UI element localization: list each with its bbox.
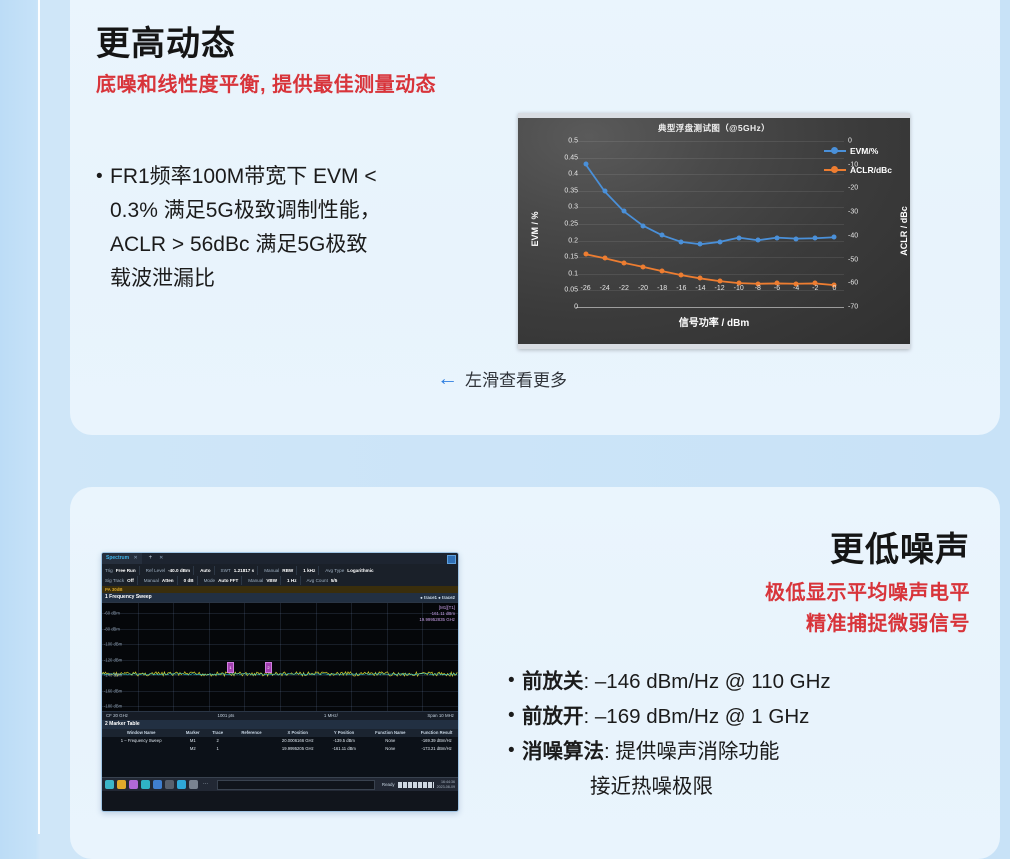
sa-spectrum-graph[interactable]: [M1][T1]-161.11 dBm19.99952835 GHz 1 2 -… [102,602,458,711]
chart-data-point [832,235,837,240]
chart-data-point [583,162,588,167]
sa-param-value[interactable]: Auto FFT [218,578,238,583]
bullet-spacer [96,194,110,228]
chart-x-tick: -20 [638,285,648,292]
sa-param-separator [139,566,140,575]
table-cell: M1 [180,737,205,745]
section-noise-bullets: • 前放关: –146 dBm/Hz @ 110 GHz • 前放开: –169… [508,664,998,804]
table-column-header: X Position [273,729,323,737]
chart-y2-tick: -50 [848,256,878,263]
sa-param-label: Ref Level [143,568,165,573]
sa-param-separator [241,576,242,585]
sa-grid-horizontal [102,644,458,645]
sa-param-label: Manual [261,568,279,573]
sa-param-value[interactable]: Logarithmic [347,568,373,573]
sa-clock-date: 2023-08-09 [437,785,455,790]
sa-graph-y-label: -120 dBm [104,657,122,662]
table-cell [230,745,273,753]
sa-scale-badge: PA 30dB [102,586,458,593]
sa-marker-table-body: 1 – Frequency SweepM1220.0006166 GHz-139… [102,737,458,753]
list-item: 0.3% 满足5G极致调制性能， [96,194,476,228]
sa-param-label: SWT [218,568,231,573]
sa-param-separator [300,576,301,585]
sa-grid-vertical [316,603,317,711]
sa-param-value[interactable]: Auto [200,568,210,573]
swipe-for-more-hint[interactable]: ← 左滑查看更多 [437,366,567,391]
sa-param-label: Mode [201,578,216,583]
bullet-dot: • [508,699,522,734]
bullet-label: 消噪算法 [522,740,604,763]
bullet-text-line: ACLR > 56dBc 满足5G极致 [110,228,476,262]
chart-x-axis-label: 信号功率 / dBm [518,314,910,329]
undo-icon[interactable] [153,780,162,789]
table-column-header: Function Result [415,729,458,737]
save-icon[interactable] [129,780,138,789]
sa-param-value[interactable]: 1 kHz [303,568,315,573]
table-cell: -169.39 dBm/Hz [415,737,458,745]
sa-parameter-bar: TrigFree RunRef Level-40.0 dBmAutoSWT1.2… [102,564,458,586]
bullet-text-line: 0.3% 满足5G极致调制性能， [110,194,476,228]
chart-data-point [679,239,684,244]
page-left-rail [38,0,40,834]
chart-x-tick: -16 [676,285,686,292]
sa-param-separator [177,576,178,585]
chart-data-point [717,279,722,284]
sa-grid-vertical [387,603,388,711]
sa-param-separator [280,576,281,585]
sa-grid-horizontal [102,629,458,630]
sa-param-separator [137,576,138,585]
window-button[interactable] [447,555,456,564]
chart-y-tick: 0.25 [538,221,578,228]
sa-tab-label: Spectrum [106,555,129,561]
sa-grid-vertical [244,603,245,711]
sa-param-label: Manual [141,578,159,583]
folder-icon[interactable] [117,780,126,789]
list-item: • 前放关: –146 dBm/Hz @ 110 GHz [508,664,998,699]
sa-span-step: 1 MHz/ [324,712,338,720]
sa-param-value[interactable]: 0 dB [184,578,194,583]
left-arrow-icon: ← [437,370,458,387]
table-cell: None [365,737,415,745]
table-row[interactable]: 1 – Frequency SweepM1220.0006166 GHz-139… [102,737,458,745]
chart-data-point [775,235,780,240]
section-noise-subtitle: 极低显示平均噪声电平 精准捕捉微弱信号 [765,578,970,640]
sa-tab-spectrum[interactable]: Spectrum ✕ [102,553,142,564]
bullet-label: 前放关 [522,670,584,693]
sa-progress-blocks [398,782,434,788]
chart-x-tick: -2 [812,285,818,292]
sa-param-label: Manual [245,578,263,583]
sa-param-separator [257,566,258,575]
sa-param-separator [197,576,198,585]
chart-y-tick: 0.2 [538,237,578,244]
close-icon[interactable]: ✕ [133,555,137,561]
sa-span: Span 10 MHz [427,712,454,720]
chart-legend-label: EVM/% [850,146,878,156]
chart-data-point [736,235,741,240]
list-item: 载波泄漏比 [96,262,476,296]
sa-marker-2-label: 2 [266,663,271,672]
sa-param-value[interactable]: Off [127,578,134,583]
chart-data-point [679,273,684,278]
chart-x-tick: -26 [581,285,591,292]
chart-plot-area [576,141,844,307]
chart-y-tick: 0.45 [538,154,578,161]
chart-y-tick: 0.1 [538,270,578,277]
sa-param-value[interactable]: 1.21817 s [234,568,254,573]
bullet-value: –146 dBm/Hz @ 110 GHz [595,670,831,693]
chart-y2-tick: -40 [848,232,878,239]
chart-y2-tick: -70 [848,304,878,311]
table-column-header: Trace [205,729,230,737]
sa-window-header: 1 Frequency Sweep ● trace1 ● trace2 [102,593,458,602]
chart-data-point [813,236,818,241]
chart-data-point [641,264,646,269]
sa-clock: 16:44:36 2023-08-09 [437,780,455,790]
section-noise-subtitle-line: 精准捕捉微弱信号 [765,609,970,640]
table-column-header: Marker [180,729,205,737]
chart-y-tick: 0.15 [538,254,578,261]
sa-param-value[interactable]: -40.0 dBm [168,568,190,573]
table-header-row: Window NameMarkerTraceReferenceX Positio… [102,729,458,737]
sa-param-row-1: TrigFree RunRef Level-40.0 dBmAutoSWT1.2… [102,565,458,575]
sa-marker-table-title: 2 Marker Table [102,720,458,729]
bullet-text: 前放关: –146 dBm/Hz @ 110 GHz [522,664,998,699]
section-dynamic-title: 更高动态 [96,16,236,65]
table-column-header: Reference [230,729,273,737]
list-item: • FR1频率100M带宽下 EVM < [96,160,476,194]
table-cell: 1 [205,745,230,753]
chart-data-point [698,242,703,247]
sa-graph-y-label: -100 dBm [104,642,122,647]
chart-data-point [755,238,760,243]
sa-points: 1001 pts [218,712,235,720]
chart-data-point [621,260,626,265]
bullet-value: –169 dBm/Hz @ 1 GHz [595,705,810,728]
chart-x-tick: -12 [715,285,725,292]
bullet-text: 消噪算法: 提供噪声消除功能 [522,734,998,769]
sa-graph-y-label: -60 dBm [104,611,120,616]
chart-data-point [660,233,665,238]
bullet-value: 提供噪声消除功能 [615,740,779,763]
table-cell: -161.11 dBm [323,745,366,753]
bullet-label: 前放开 [522,705,584,728]
table-cell: 20.0006166 GHz [273,737,323,745]
table-cell: None [365,745,415,753]
chart-y2-tick: -10 [848,161,878,168]
list-item: • 消噪算法: 提供噪声消除功能 [508,734,998,769]
chart-top-strip [518,113,910,118]
sa-marker-2[interactable]: 2 [265,662,272,673]
sa-taskbar: ··· Ready 16:44:36 2023-08-09 [102,777,458,791]
chart-x-tick: 0 [832,285,836,292]
table-cell: 2 [205,737,230,745]
section-dynamic-bullets: • FR1频率100M带宽下 EVM < 0.3% 满足5G极致调制性能， AC… [96,160,476,296]
chart-y-tick: 0.05 [538,287,578,294]
chart-data-point [621,209,626,214]
sa-center-frequency: CF 20 GHz [106,712,128,720]
table-column-header: Window Name [102,729,180,737]
sa-grid-horizontal [102,706,458,707]
more-icon[interactable]: ··· [201,780,210,789]
table-cell: 1 – Frequency Sweep [102,737,180,745]
chart-y2-tick: -30 [848,209,878,216]
chart-x-tick: -24 [600,285,610,292]
chart-data-point [641,223,646,228]
sa-graph-footer: CF 20 GHz 1001 pts 1 MHz/ Span 10 MHz [102,711,458,720]
chart-y2-tick: -60 [848,280,878,287]
bullet-text-line: FR1频率100M带宽下 EVM < [110,160,476,194]
table-cell [230,737,273,745]
sa-marker-readout: [M1][T1]-161.11 dBm19.99952835 GHz [419,605,455,623]
sa-marker-table-filler [102,753,458,777]
sa-param-value[interactable]: 1 Hz [287,578,296,583]
sa-param-row-2: Sig TrackOffManualAtten0 dBModeAuto FFTM… [102,575,458,585]
gear-icon[interactable] [177,780,186,789]
table-cell: M2 [180,745,205,753]
table-column-header: Function Name [365,729,415,737]
sa-grid-horizontal [102,613,458,614]
chart-y-tick: 0.3 [538,204,578,211]
chart-data-point [794,236,799,241]
sa-grid-vertical [422,603,423,711]
chart-data-point [698,276,703,281]
chart-y-tick: 0 [538,304,578,311]
chart-y2-axis-label: ACLR / dBc [899,206,909,256]
sa-grid-vertical [173,603,174,711]
sa-param-value[interactable]: Atten [162,578,174,583]
list-item: • 前放开: –169 dBm/Hz @ 1 GHz [508,699,998,734]
chart-data-point [717,239,722,244]
sa-marker-1-label: 1 [228,663,233,672]
sa-window-title: 1 Frequency Sweep [105,593,152,602]
sa-grid-vertical [351,603,352,711]
sa-grid-vertical [209,603,210,711]
chart-data-point [583,252,588,257]
chart-x-tick: -18 [657,285,667,292]
chart-title: 典型浮盘测试图（@5GHz） [518,122,910,134]
section-noise-title: 更低噪声 [830,522,970,571]
chart-x-tick: -14 [695,285,705,292]
spectrum-analyzer-screenshot: Spectrum ✕ + ✕ TrigFree RunRef Level-40.… [101,552,459,812]
chart-x-tick: -8 [755,285,761,292]
chart-bottom-strip [518,344,910,349]
sa-param-separator [214,566,215,575]
chart-y-tick: 0.35 [538,187,578,194]
chart-data-point [660,269,665,274]
sa-command-bar[interactable] [217,780,375,790]
sa-grid-vertical [138,603,139,711]
table-cell: -139.5 dBm [323,737,366,745]
table-column-header: Y Position [323,729,366,737]
chart-x-tick: -6 [774,285,780,292]
chart-series-svg [576,141,844,307]
chart-x-tick: -22 [619,285,629,292]
bullet-dot: • [508,664,522,699]
sa-status-label: Ready [382,782,395,787]
table-row[interactable]: M2119.9995205 GHz-161.11 dBmNone-173.21 … [102,745,458,753]
chart-y-tick: 0.5 [538,138,578,145]
chart-series-line [586,164,835,244]
evm-aclr-chart: 典型浮盘测试图（@5GHz） EVM / % ACLR / dBc 信号功率 /… [518,113,910,349]
sa-grid-vertical [280,603,281,711]
sa-param-value[interactable]: 5/5 [331,578,337,583]
bullet-text: 前放开: –169 dBm/Hz @ 1 GHz [522,699,998,734]
chart-data-point [602,256,607,261]
sa-graph-y-label: -160 dBm [104,688,122,693]
bullet-spacer [96,262,110,296]
sa-param-label: Sig Track [102,578,124,583]
sa-grid-horizontal [102,691,458,692]
sa-marker-1[interactable]: 1 [227,662,234,673]
list-item: ACLR > 56dBc 满足5G极致 [96,228,476,262]
chart-y2-tick: -20 [848,185,878,192]
table-cell [102,745,180,753]
chart-y-tick: 0.4 [538,171,578,178]
settings-icon[interactable] [105,780,114,789]
sa-param-separator [296,566,297,575]
chart-data-point [602,189,607,194]
sa-grid-horizontal [102,675,458,676]
add-tab-icon[interactable]: + [149,553,153,564]
bullet-sep: : [584,670,595,693]
sa-param-value[interactable]: VBW [266,578,277,583]
sa-readout-line: 19.99952835 GHz [419,617,455,623]
target-icon[interactable] [141,780,150,789]
section-dynamic-subtitle: 底噪和线性度平衡, 提供最佳测量动态 [96,68,436,97]
sa-graph-y-label: -140 dBm [104,673,122,678]
bullet-dot: • [96,160,110,194]
bullet-spacer [96,228,110,262]
sa-graph-y-label: -80 dBm [104,626,120,631]
sa-grid-horizontal [102,660,458,661]
link-icon[interactable] [165,780,174,789]
sa-tab-bar: Spectrum ✕ + ✕ [102,553,458,564]
chart-gridline [576,307,844,308]
sa-param-separator [193,566,194,575]
sa-trace-legend: ● trace1 ● trace2 [420,593,458,602]
bullet-dot: • [508,734,522,769]
list-item-continuation: 接近热噪极限 [508,769,998,804]
camera-icon[interactable] [189,780,198,789]
swipe-hint-label: 左滑查看更多 [465,366,567,391]
bullet-sep: : [604,740,615,763]
sa-param-value[interactable]: RBW [282,568,293,573]
table-cell: -173.21 dBm/Hz [415,745,458,753]
close-icon[interactable]: ✕ [159,553,163,564]
sa-param-label: Avg Count [304,578,328,583]
bullet-continuation-text: 接近热噪极限 [590,769,998,804]
chart-y2-tick: 0 [848,138,878,145]
sa-param-label: Avg Type [322,568,344,573]
sa-graph-y-label: -180 dBm [104,704,122,709]
chart-x-tick: -10 [734,285,744,292]
bullet-text-line: 载波泄漏比 [110,262,476,296]
bullet-sep: : [584,705,595,728]
chart-x-tick: -4 [793,285,799,292]
sa-param-label: Trig [102,568,113,573]
sa-param-value[interactable]: Free Run [116,568,136,573]
section-noise-subtitle-line: 极低显示平均噪声电平 [765,578,970,609]
sa-param-separator [318,566,319,575]
table-cell: 19.9995205 GHz [273,745,323,753]
